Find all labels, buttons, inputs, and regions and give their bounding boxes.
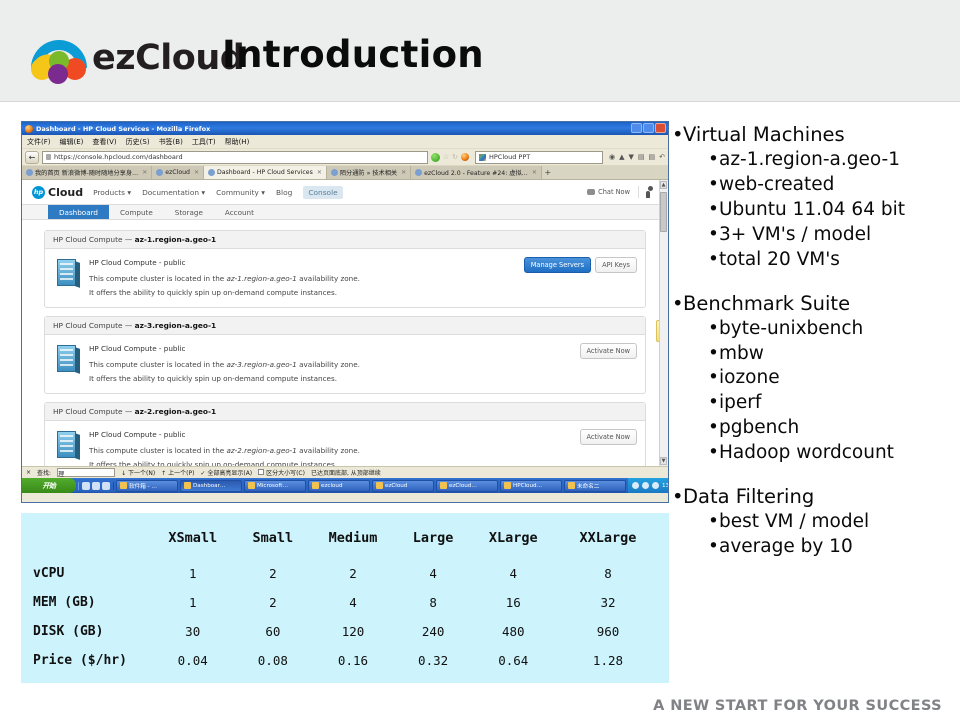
- tab-label: 陌分通防 » 技术相关: [340, 168, 397, 177]
- bullet-block-data-filtering: •Data Filtering •best VM / model •averag…: [670, 484, 960, 560]
- card-line-1: This compute cluster is located in the a…: [89, 272, 360, 285]
- nav-blog[interactable]: Blog: [276, 188, 292, 197]
- card-title-zone: az-1.region-a.geo-1: [135, 235, 217, 244]
- bookmark-star-icon[interactable]: ☆: [443, 153, 449, 161]
- menu-history[interactable]: 历史(S): [126, 137, 150, 147]
- cell: 2: [236, 588, 309, 617]
- cell: 30: [149, 617, 236, 646]
- browser-menubar[interactable]: 文件(F) 编辑(E) 查看(V) 历史(S) 书签(B) 工具(T) 帮助(H…: [22, 135, 668, 149]
- compute-card-actions: Manage Servers API Keys: [524, 257, 637, 273]
- manage-servers-button[interactable]: Manage Servers: [524, 257, 591, 273]
- chat-icon: [587, 189, 595, 195]
- cell: 1: [149, 588, 236, 617]
- bullet-heading: •Data Filtering: [670, 484, 960, 510]
- card-line-2: It offers the ability to quickly spin up…: [89, 286, 360, 299]
- table-row: DISK (GB) 30 60 120 240 480 960: [31, 617, 659, 646]
- find-status-text: 已达页面底部, 从顶部继续: [311, 468, 381, 477]
- cell: 2: [309, 559, 396, 588]
- browser-titlebar: Dashboard - HP Cloud Services - Mozilla …: [22, 122, 668, 135]
- bullet-column: •Virtual Machines •az-1.region-a.geo-1 •…: [670, 122, 960, 682]
- bullet-item: •mbw: [670, 342, 960, 367]
- scroll-thumb[interactable]: [660, 192, 667, 232]
- slide-header: ezCloud Introduction: [0, 0, 960, 102]
- bullet-item: •byte-unixbench: [670, 317, 960, 342]
- taskbar-item[interactable]: 软件箱 - …: [116, 480, 178, 492]
- hpcloud-logo[interactable]: hp Cloud: [32, 186, 83, 199]
- browser-tab[interactable]: ezCloud ✕: [152, 166, 204, 179]
- ezcloud-logo-icon: [28, 28, 90, 84]
- browser-screenshot: Dashboard - HP Cloud Services - Mozilla …: [21, 121, 669, 503]
- menu-help[interactable]: 帮助(H): [225, 137, 250, 147]
- bullet-glyph: •: [708, 248, 719, 273]
- nav-products[interactable]: Products ▾: [93, 188, 131, 197]
- search-input[interactable]: HPCloud PPT: [475, 151, 603, 164]
- find-highlight-button[interactable]: ✓ 全部高亮显示(A): [200, 468, 252, 477]
- firefox-icon: [25, 125, 33, 133]
- find-label: 查找:: [37, 468, 51, 477]
- toolbar-icons[interactable]: ◉ ▲ ▼ ▤ ▤ ↶: [606, 153, 665, 161]
- cell: 4: [470, 559, 557, 588]
- bullet-glyph: •: [672, 291, 683, 317]
- browser-navbar: ← https://console.hpcloud.com/dashboard …: [22, 149, 668, 166]
- quick-launch[interactable]: [78, 482, 114, 490]
- cell: 4: [397, 559, 470, 588]
- nav-console[interactable]: Console: [303, 186, 342, 199]
- quicklaunch-icon[interactable]: [82, 482, 90, 490]
- cell: 8: [557, 559, 659, 588]
- compute-card-text: HP Cloud Compute - public This compute c…: [89, 342, 360, 385]
- taskbar-item[interactable]: ezcloud: [308, 480, 370, 492]
- tray-icon[interactable]: [652, 482, 659, 489]
- cell: 960: [557, 617, 659, 646]
- hpcloud-header: hp Cloud Products ▾ Documentation ▾ Comm…: [22, 180, 668, 205]
- find-matchcase-checkbox[interactable]: 区分大小写(C): [258, 468, 305, 477]
- hpcloud-logo-text: Cloud: [48, 186, 83, 199]
- activate-now-button[interactable]: Activate Now: [580, 429, 637, 445]
- bullet-item: •Hadoop wordcount: [670, 441, 960, 466]
- print-icon[interactable]: ▤: [638, 153, 645, 161]
- new-tab-button[interactable]: +: [542, 166, 554, 179]
- card-title-prefix: HP Cloud Compute —: [53, 235, 135, 244]
- card-line-1: This compute cluster is located in the a…: [89, 444, 360, 457]
- api-keys-button[interactable]: API Keys: [595, 257, 637, 273]
- tab-favicon-icon: [26, 169, 33, 176]
- cell: 120: [309, 617, 396, 646]
- bullet-item: •total 20 VM's: [670, 248, 960, 273]
- bullet-glyph: •: [708, 535, 719, 560]
- bullet-block-benchmark-suite: •Benchmark Suite •byte-unixbench •mbw •i…: [670, 291, 960, 466]
- browser-tab-active[interactable]: Dashboard - HP Cloud Services ✕: [204, 166, 327, 179]
- table-row: MEM (GB) 1 2 4 8 16 32: [31, 588, 659, 617]
- bullet-glyph: •: [672, 122, 683, 148]
- cell: 8: [397, 588, 470, 617]
- extension-icon[interactable]: [461, 153, 469, 161]
- card-title-prefix: HP Cloud Compute —: [53, 321, 135, 330]
- find-bar[interactable]: × 查找: 理 ↓ 下一个(N) ↑ 上一个(P) ✓ 全部高亮显示(A) 区分…: [22, 466, 668, 478]
- col-header-small: Small: [236, 521, 309, 559]
- tab-favicon-icon: [156, 169, 163, 176]
- tab-close-icon[interactable]: ✕: [401, 169, 406, 176]
- server-icon: [53, 428, 81, 462]
- spec-table-grid: XSmall Small Medium Large XLarge XXLarge…: [31, 521, 659, 675]
- bullet-glyph: •: [708, 198, 719, 223]
- card-line-1: This compute cluster is located in the a…: [89, 358, 360, 371]
- menu-edit[interactable]: 编辑(E): [60, 137, 84, 147]
- col-header-xsmall: XSmall: [149, 521, 236, 559]
- address-bar[interactable]: https://console.hpcloud.com/dashboard: [42, 151, 428, 164]
- chat-now-button[interactable]: Chat Now: [587, 188, 630, 196]
- cell: 480: [470, 617, 557, 646]
- table-row: Price ($/hr) 0.04 0.08 0.16 0.32 0.64 1.…: [31, 646, 659, 675]
- subnav-account[interactable]: Account: [214, 205, 265, 219]
- server-icon: [53, 342, 81, 376]
- compute-card-title: HP Cloud Compute — az-2.region-a.geo-1: [45, 403, 645, 421]
- bullet-item: •pgbench: [670, 416, 960, 441]
- bullet-glyph: •: [708, 173, 719, 198]
- bullet-item: •az-1.region-a.geo-1: [670, 148, 960, 173]
- menu-file[interactable]: 文件(F): [27, 137, 51, 147]
- compute-card-text: HP Cloud Compute - public This compute c…: [89, 428, 360, 466]
- bullet-glyph: •: [708, 223, 719, 248]
- browser-tab[interactable]: 陌分通防 » 技术相关 ✕: [327, 166, 411, 179]
- scroll-up-icon[interactable]: ▲: [660, 181, 667, 189]
- cell: 0.32: [397, 646, 470, 675]
- cell: 60: [236, 617, 309, 646]
- taskbar-item[interactable]: 未命名二: [564, 480, 626, 492]
- search-engine-icon: [479, 154, 486, 161]
- bullet-block-virtual-machines: •Virtual Machines •az-1.region-a.geo-1 •…: [670, 122, 960, 273]
- compute-card: HP Cloud Compute — az-2.region-a.geo-1 H…: [44, 402, 646, 466]
- find-close-icon[interactable]: ×: [26, 469, 31, 476]
- tab-favicon-icon: [415, 169, 422, 176]
- compute-card: HP Cloud Compute — az-1.region-a.geo-1 H…: [44, 230, 646, 308]
- tab-label: 我的首页 新浪微博-随时随地分享身…: [35, 168, 138, 177]
- compute-card-text: HP Cloud Compute - public This compute c…: [89, 256, 360, 299]
- bullet-item: •web-created: [670, 173, 960, 198]
- avatar[interactable]: [638, 186, 650, 198]
- col-header-medium: Medium: [309, 521, 396, 559]
- undo-icon[interactable]: ↶: [659, 153, 665, 161]
- bullet-item: •Ubuntu 11.04 64 bit: [670, 198, 960, 223]
- apps-icon[interactable]: ▤: [649, 153, 656, 161]
- quicklaunch-icon[interactable]: [102, 482, 110, 490]
- tab-close-icon[interactable]: ✕: [142, 169, 147, 176]
- search-input-value: HPCloud PPT: [489, 153, 530, 161]
- taskbar-clock: 13:23: [662, 483, 669, 489]
- row-label-disk: DISK (GB): [31, 617, 149, 646]
- bullet-glyph: •: [708, 416, 719, 441]
- subnav-dashboard[interactable]: Dashboard: [48, 205, 109, 219]
- subnav-compute[interactable]: Compute: [109, 205, 164, 219]
- home-icon[interactable]: ▲: [619, 153, 624, 161]
- browser-window-title: Dashboard - HP Cloud Services - Mozilla …: [36, 125, 210, 133]
- window-controls[interactable]: [631, 123, 666, 133]
- bullet-heading: •Benchmark Suite: [670, 291, 960, 317]
- taskbar-item[interactable]: Microsoft…: [244, 480, 306, 492]
- tab-label: ezCloud: [165, 169, 190, 176]
- windows-taskbar[interactable]: 开始 软件箱 - … Dashboar… Microsoft… ezcloud …: [22, 478, 668, 493]
- dashboard-body: HP Cloud Compute — az-1.region-a.geo-1 H…: [22, 220, 668, 466]
- bullet-item: •average by 10: [670, 535, 960, 560]
- slide-footer: A NEW START FOR YOUR SUCCESS: [0, 690, 960, 720]
- cell: 16: [470, 588, 557, 617]
- taskbar-item[interactable]: ezCloud: [372, 480, 434, 492]
- bullet-item: •best VM / model: [670, 510, 960, 535]
- taskbar-item[interactable]: ezCloud…: [436, 480, 498, 492]
- hpcloud-mainnav[interactable]: Products ▾ Documentation ▾ Community ▾ B…: [93, 186, 343, 199]
- card-subtitle: HP Cloud Compute - public: [89, 256, 360, 269]
- card-title-prefix: HP Cloud Compute —: [53, 407, 135, 416]
- tab-close-icon[interactable]: ✕: [317, 169, 322, 176]
- find-next-button[interactable]: ↓ 下一个(N): [121, 468, 155, 477]
- cell: 4: [309, 588, 396, 617]
- menu-view[interactable]: 查看(V): [92, 137, 116, 147]
- globe-icon[interactable]: ◉: [609, 153, 615, 161]
- tab-favicon-icon: [208, 169, 215, 176]
- taskbar-item[interactable]: Dashboar…: [180, 480, 242, 492]
- cell: 0.08: [236, 646, 309, 675]
- maximize-button[interactable]: [643, 123, 654, 133]
- browser-tab[interactable]: 我的首页 新浪微博-随时随地分享身… ✕: [22, 166, 152, 179]
- bullet-glyph: •: [708, 342, 719, 367]
- table-row: vCPU 1 2 2 4 4 8: [31, 559, 659, 588]
- system-tray[interactable]: 13:23: [628, 478, 669, 493]
- quicklaunch-icon[interactable]: [92, 482, 100, 490]
- hpcloud-subnav[interactable]: Dashboard Compute Storage Account: [22, 205, 668, 220]
- bullet-glyph: •: [708, 510, 719, 535]
- tab-label: Dashboard - HP Cloud Services: [217, 169, 313, 176]
- page-title: Introduction: [222, 33, 484, 76]
- start-button[interactable]: 开始: [22, 478, 76, 493]
- row-label-price: Price ($/hr): [31, 646, 149, 675]
- bullet-glyph: •: [708, 441, 719, 466]
- compute-card-actions: Activate Now: [580, 343, 637, 359]
- footer-tagline: A NEW START FOR YOUR SUCCESS: [653, 698, 942, 714]
- minimize-button[interactable]: [631, 123, 642, 133]
- cell: 240: [397, 617, 470, 646]
- card-title-zone: az-3.region-a.geo-1: [135, 321, 217, 330]
- cell: 0.04: [149, 646, 236, 675]
- bullet-item: •iperf: [670, 391, 960, 416]
- compute-card-actions: Activate Now: [580, 429, 637, 445]
- compute-card-title: HP Cloud Compute — az-3.region-a.geo-1: [45, 317, 645, 335]
- row-label-mem: MEM (GB): [31, 588, 149, 617]
- address-bar-url: https://console.hpcloud.com/dashboard: [54, 153, 183, 161]
- cell: 1.28: [557, 646, 659, 675]
- taskbar-item[interactable]: HPCloud…: [500, 480, 562, 492]
- cell: 0.16: [309, 646, 396, 675]
- vm-spec-table: XSmall Small Medium Large XLarge XXLarge…: [21, 513, 669, 683]
- nav-community[interactable]: Community ▾: [216, 188, 265, 197]
- table-corner-cell: [31, 521, 149, 559]
- server-icon: [53, 256, 81, 290]
- bullet-glyph: •: [708, 317, 719, 342]
- bullet-item: •iozone: [670, 366, 960, 391]
- tray-icon[interactable]: [632, 482, 639, 489]
- col-header-large: Large: [397, 521, 470, 559]
- page-scrollbar[interactable]: ▲ ▼: [659, 180, 668, 466]
- col-header-xlarge: XLarge: [470, 521, 557, 559]
- find-input[interactable]: 理: [57, 468, 115, 477]
- download-icon[interactable]: ▼: [628, 153, 633, 161]
- nav-documentation[interactable]: Documentation ▾: [142, 188, 205, 197]
- find-prev-button[interactable]: ↑ 上一个(P): [161, 468, 194, 477]
- cell: 2: [236, 559, 309, 588]
- compute-card-title: HP Cloud Compute — az-1.region-a.geo-1: [45, 231, 645, 249]
- col-header-xxlarge: XXLarge: [557, 521, 659, 559]
- hp-logo-icon: hp: [32, 186, 45, 199]
- bullet-glyph: •: [672, 484, 683, 510]
- reload-icon[interactable]: ↻: [452, 153, 458, 161]
- card-title-zone: az-2.region-a.geo-1: [135, 407, 217, 416]
- bullet-glyph: •: [708, 366, 719, 391]
- page-viewport: hp Cloud Products ▾ Documentation ▾ Comm…: [22, 180, 668, 466]
- browser-tab[interactable]: ezCloud 2.0 - Feature #24: 虚拟… ✕: [411, 166, 542, 179]
- table-header-row: XSmall Small Medium Large XLarge XXLarge: [31, 521, 659, 559]
- card-subtitle: HP Cloud Compute - public: [89, 342, 360, 355]
- cell: 32: [557, 588, 659, 617]
- compute-card-body: HP Cloud Compute - public This compute c…: [45, 335, 645, 393]
- tab-close-icon[interactable]: ✕: [532, 169, 537, 176]
- go-icon[interactable]: [431, 153, 440, 162]
- row-label-vcpu: vCPU: [31, 559, 149, 588]
- hpcloud-header-right: Chat Now: [587, 186, 668, 198]
- tab-favicon-icon: [331, 169, 338, 176]
- card-subtitle: HP Cloud Compute - public: [89, 428, 360, 441]
- menu-bookmarks[interactable]: 书签(B): [159, 137, 183, 147]
- activate-now-button[interactable]: Activate Now: [580, 343, 637, 359]
- card-line-2: It offers the ability to quickly spin up…: [89, 372, 360, 385]
- compute-card-body: HP Cloud Compute - public This compute c…: [45, 249, 645, 307]
- bullet-heading: •Virtual Machines: [670, 122, 960, 148]
- back-button[interactable]: ←: [25, 151, 39, 164]
- tray-icon[interactable]: [642, 482, 649, 489]
- scroll-down-icon[interactable]: ▼: [660, 457, 667, 465]
- close-button[interactable]: [655, 123, 666, 133]
- bullet-item: •3+ VM's / model: [670, 223, 960, 248]
- chat-now-label: Chat Now: [598, 188, 630, 196]
- menu-tools[interactable]: 工具(T): [192, 137, 216, 147]
- subnav-storage[interactable]: Storage: [164, 205, 214, 219]
- tab-close-icon[interactable]: ✕: [194, 169, 199, 176]
- bullet-glyph: •: [708, 391, 719, 416]
- bullet-glyph: •: [708, 148, 719, 173]
- card-line-2: It offers the ability to quickly spin up…: [89, 458, 360, 467]
- lock-icon: [46, 154, 51, 160]
- compute-card-body: HP Cloud Compute - public This compute c…: [45, 421, 645, 466]
- compute-card: HP Cloud Compute — az-3.region-a.geo-1 H…: [44, 316, 646, 394]
- tab-label: ezCloud 2.0 - Feature #24: 虚拟…: [424, 168, 528, 177]
- cell: 0.64: [470, 646, 557, 675]
- browser-tabbar[interactable]: 我的首页 新浪微博-随时随地分享身… ✕ ezCloud ✕ Dashboard…: [22, 166, 668, 180]
- cell: 1: [149, 559, 236, 588]
